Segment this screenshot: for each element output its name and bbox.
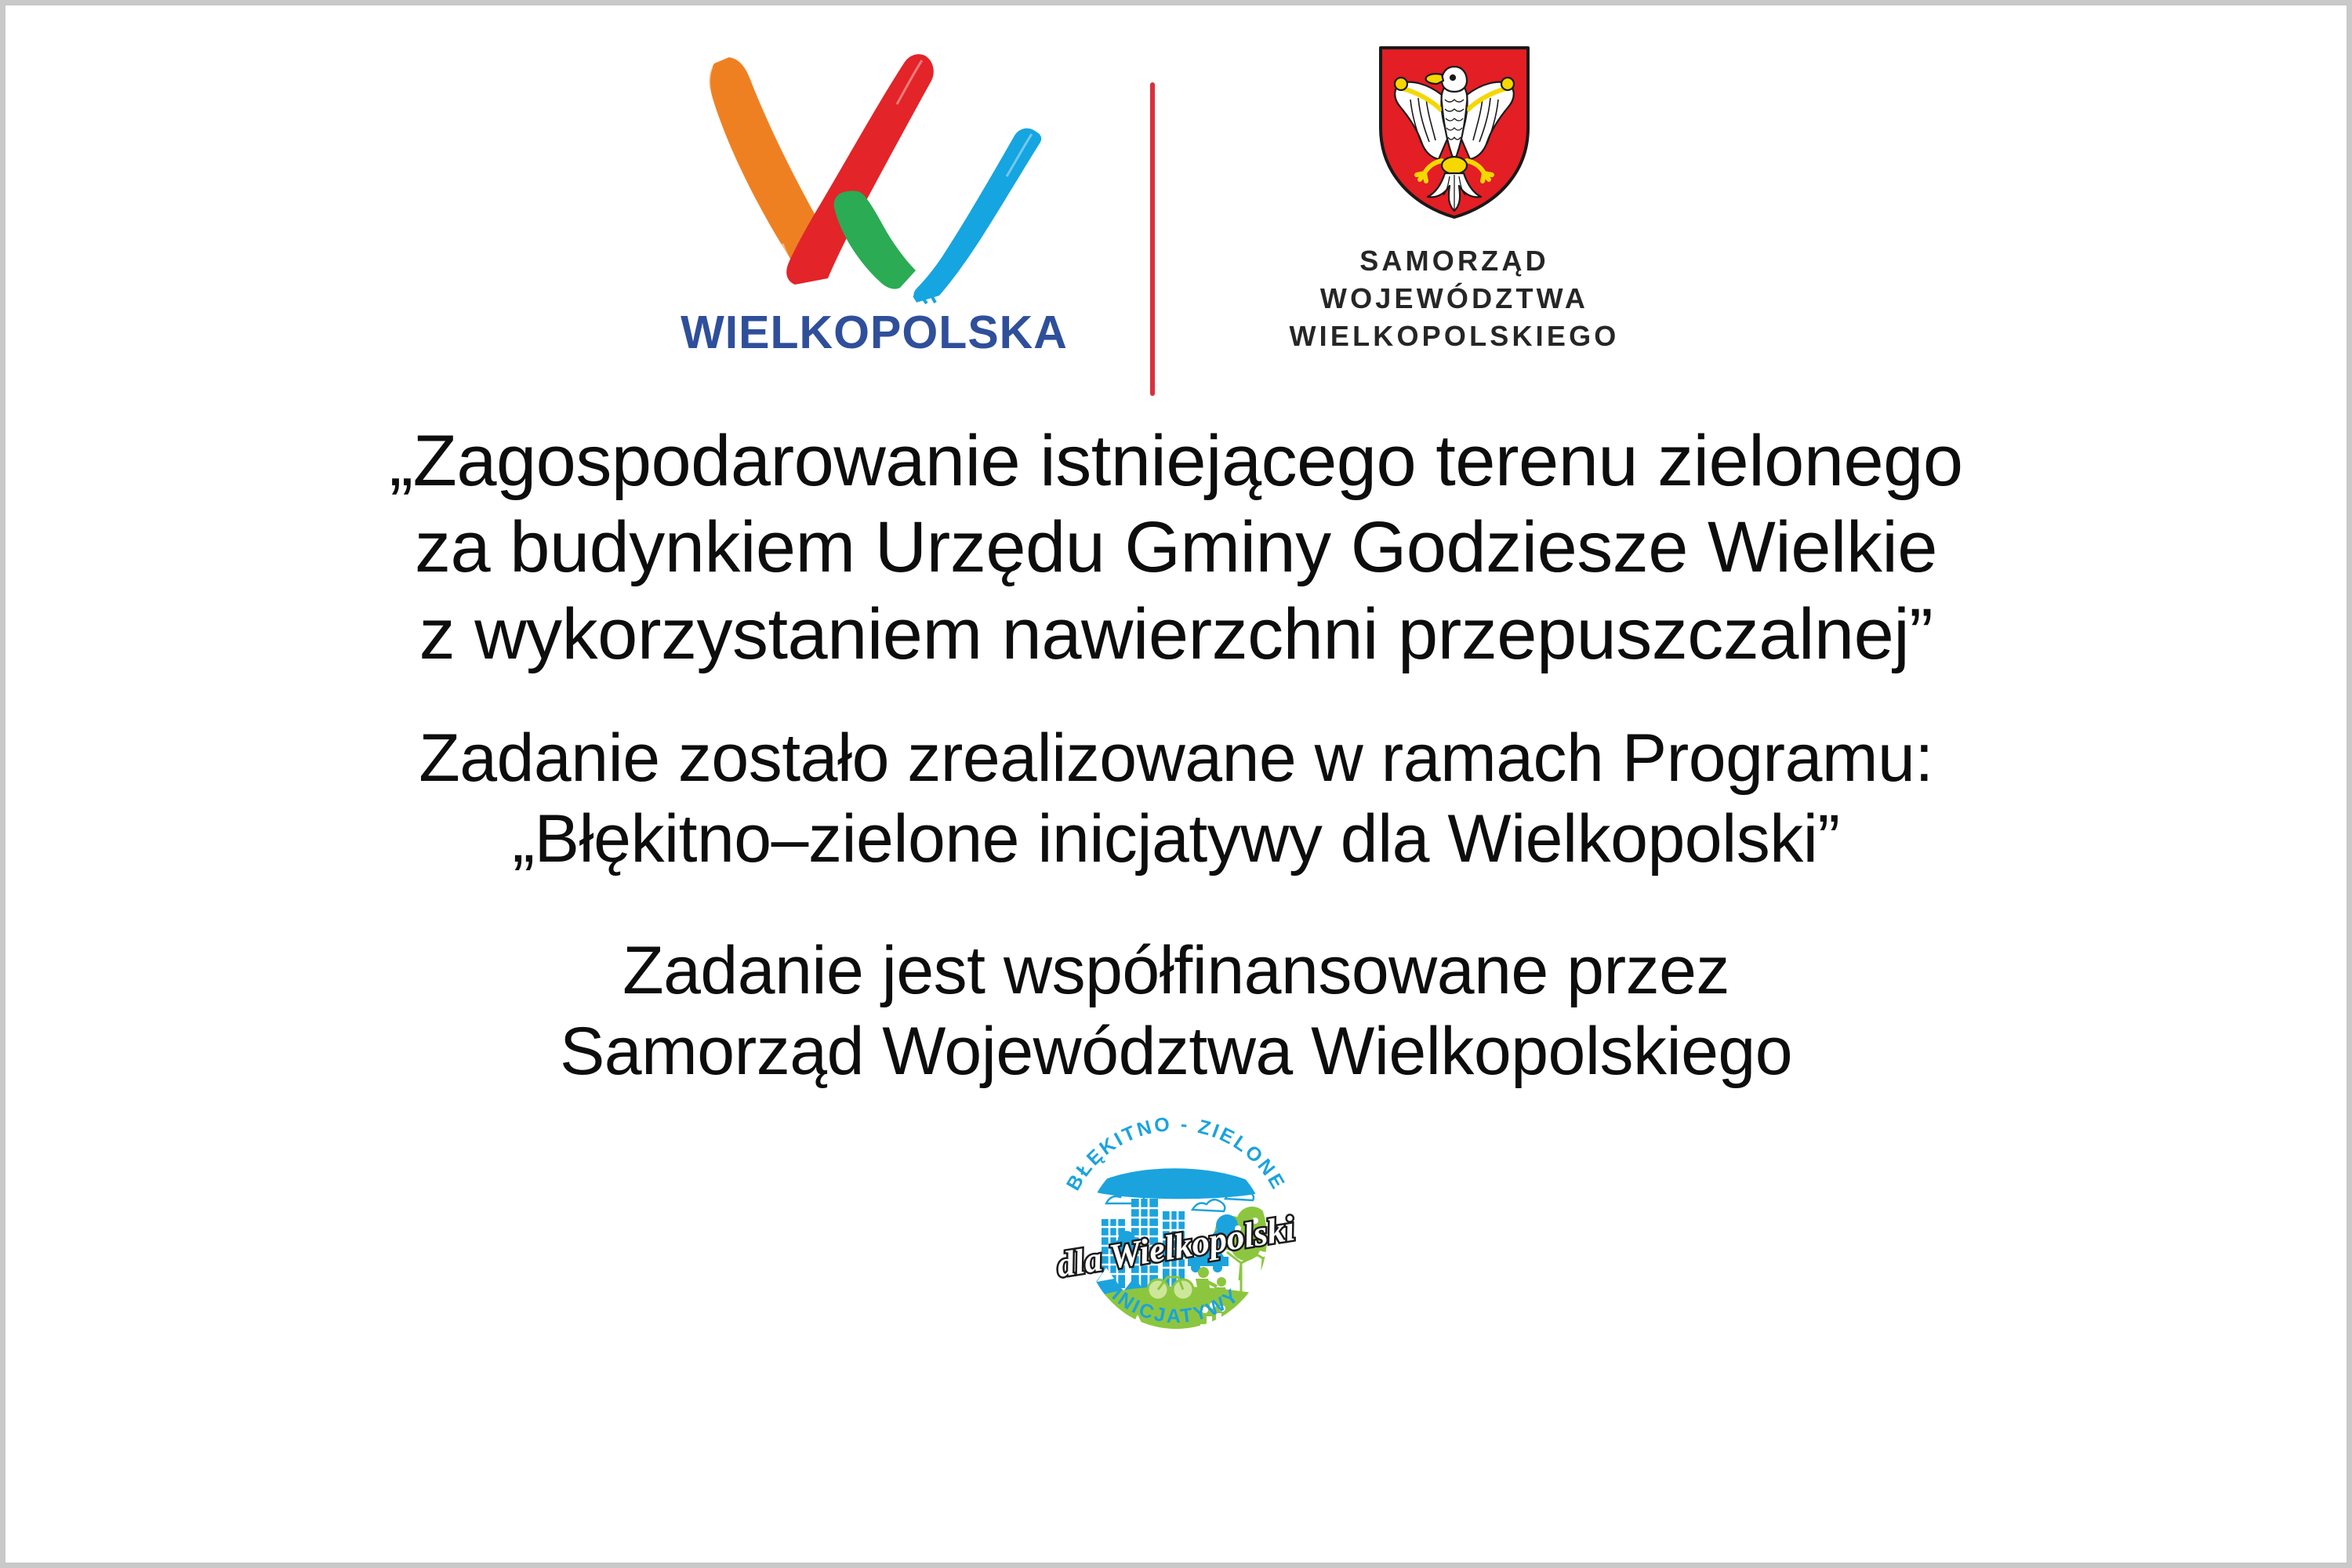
cofinancing-line-1: Zadanie jest współfinansowane przez <box>560 931 1792 1011</box>
wielkopolska-wordmark: WIELKOPOLSKA <box>681 310 1068 356</box>
samorzad-line-2: WOJEWÓDZTWA <box>1289 280 1619 318</box>
samorzad-logo: SAMORZĄD WOJEWÓDZTWA WIELKOPOLSKIEGO <box>1211 37 1697 355</box>
wielkopolska-w-icon <box>690 46 1058 305</box>
logo-header: WIELKOPOLSKA <box>5 37 2347 405</box>
project-title-line-3: z wykorzystaniem nawierzchni przepuszcza… <box>390 591 1963 677</box>
samorzad-text-block: SAMORZĄD WOJEWÓDZTWA WIELKOPOLSKIEGO <box>1289 242 1619 355</box>
header-divider <box>1150 82 1155 396</box>
project-title-line-1: „Zagospodarowanie istniejącego terenu zi… <box>390 418 1963 504</box>
project-title: „Zagospodarowanie istniejącego terenu zi… <box>390 418 1963 677</box>
program-line-2: „Błękitno–zielone inicjatywy dla Wielkop… <box>419 799 1933 880</box>
coat-of-arms-icon <box>1376 43 1533 222</box>
wielkopolska-logo: WIELKOPOLSKA <box>655 37 1094 356</box>
program-line-1: Zadanie zostało zrealizowane w ramach Pr… <box>419 718 1933 799</box>
blekitno-zielone-inicjatywy-badge-icon: BŁĘKITNO - ZIELONE INICJATYWY dla Wielko… <box>1039 1103 1313 1362</box>
cofinancing-statement: Zadanie jest współfinansowane przez Samo… <box>560 931 1792 1092</box>
project-title-line-2: za budynkiem Urzędu Gminy Godziesze Wiel… <box>390 504 1963 590</box>
cofinancing-line-2: Samorząd Województwa Wielkopolskiego <box>560 1011 1792 1092</box>
program-badge-wrap: BŁĘKITNO - ZIELONE INICJATYWY dla Wielko… <box>1039 1103 1313 1362</box>
plaque-content: „Zagospodarowanie istniejącego terenu zi… <box>5 418 2347 1092</box>
plaque-board: WIELKOPOLSKA <box>0 0 2352 1568</box>
samorzad-line-1: SAMORZĄD <box>1289 242 1619 280</box>
program-statement: Zadanie zostało zrealizowane w ramach Pr… <box>419 718 1933 880</box>
samorzad-line-3: WIELKOPOLSKIEGO <box>1289 318 1619 355</box>
